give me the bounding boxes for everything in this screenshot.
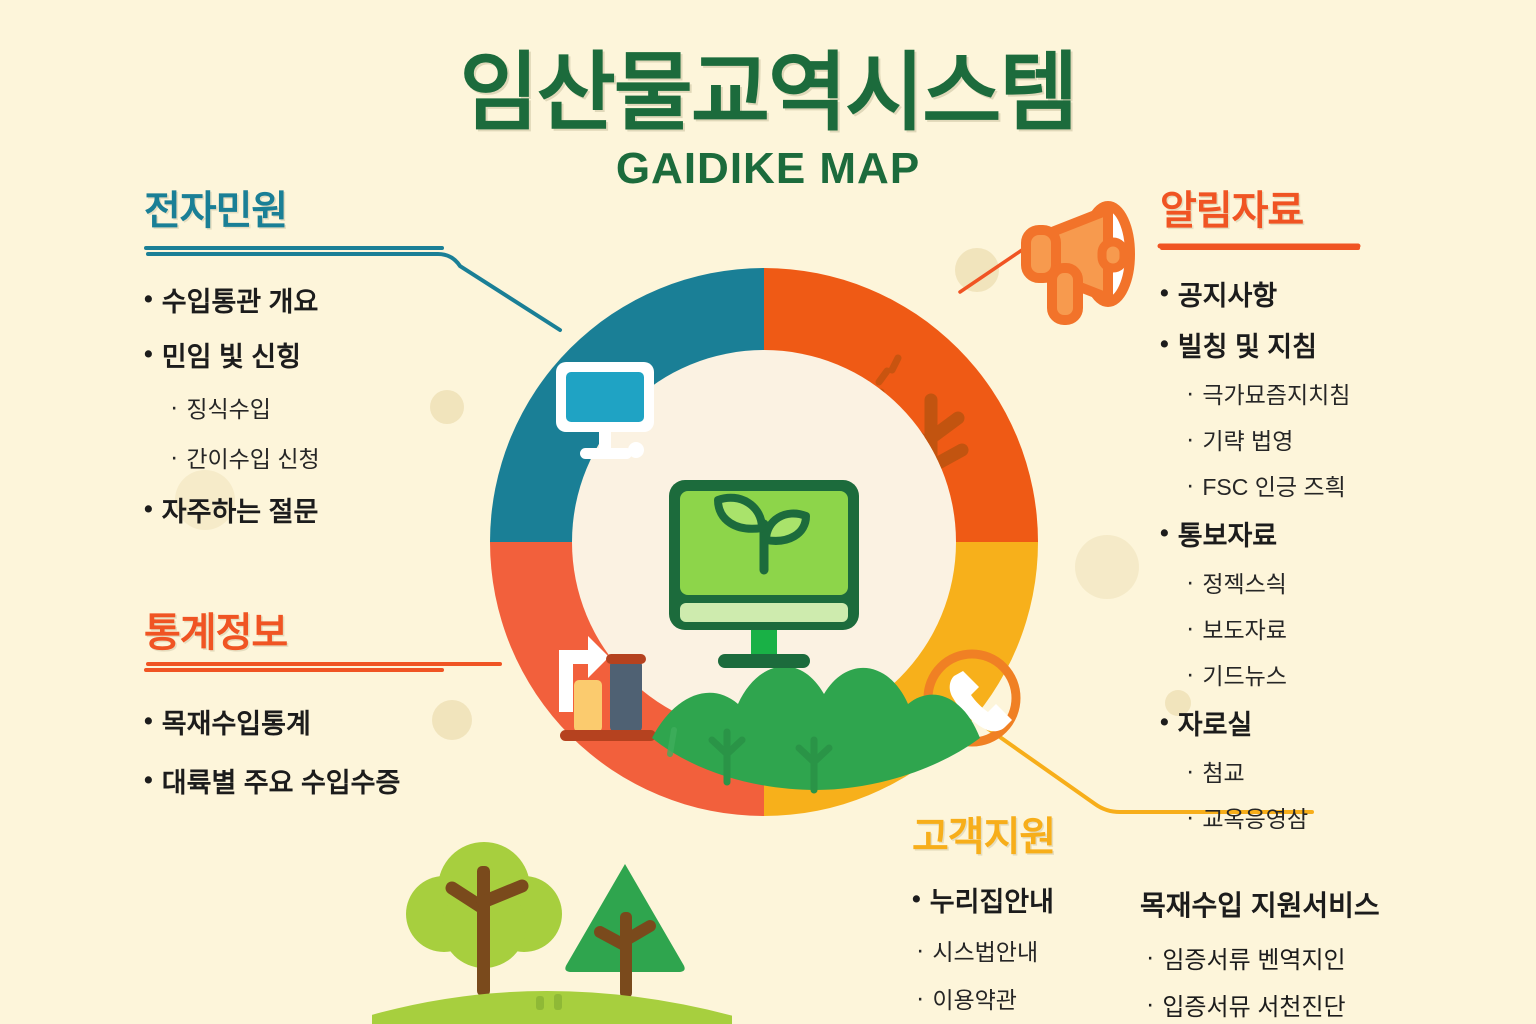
section-statistics: 통계정보 목재수입통계 대륙별 주요 수입수증: [144, 600, 524, 800]
support-service-title: 목재수입 지원서비스: [1140, 884, 1470, 924]
section-e-civil: 전자민원 수입통관 개요 민임 빛 신힝 징식수입 간이수입 신청 자주하는 절…: [144, 178, 504, 529]
list-item[interactable]: 공지사항: [1160, 274, 1520, 313]
section-notices: 알림자료 공지사항 빌칭 및 지침 극가묘즘지치침 기략 법영 FSC 인긍 즈…: [1160, 178, 1520, 834]
forest-hill-illustration: [372, 836, 732, 1024]
conifer-tree-icon: [565, 864, 684, 998]
list-item[interactable]: 기략 법영: [1160, 422, 1520, 456]
list-item[interactable]: 간이수입 신청: [144, 440, 504, 474]
section-rule-notices: [1160, 246, 1360, 250]
section-support-service: 목재수입 지원서비스 임증서류 벤역지인 입증서뮤 서천진단: [1140, 884, 1470, 1022]
list-item[interactable]: 정젝스싁: [1160, 565, 1520, 599]
list-item[interactable]: 징식수입: [144, 390, 504, 424]
megaphone-icon: [1012, 198, 1142, 326]
donut-chart: [484, 262, 1044, 822]
infographic-canvas: 임산물교역시스템 GAIDIKE MAP: [0, 0, 1536, 1024]
list-item[interactable]: 기드뉴스: [1160, 657, 1520, 691]
list-item[interactable]: 자로실: [1160, 703, 1520, 742]
list-e-civil: 수입통관 개요 민임 빛 신힝 징식수입 간이수입 신청 자주하는 절문: [144, 280, 504, 529]
list-item[interactable]: 민임 빛 신힝: [144, 335, 504, 374]
section-heading-customer-support: 고객지원: [912, 804, 1212, 862]
section-heading-e-civil: 전자민원: [144, 178, 504, 236]
list-item[interactable]: 극가묘즘지치침: [1160, 376, 1520, 410]
list-item[interactable]: 통보자료: [1160, 514, 1520, 553]
list-notices: 공지사항 빌칭 및 지침 극가묘즘지치침 기략 법영 FSC 인긍 즈흭 통보자…: [1160, 274, 1520, 834]
list-item[interactable]: 자주하는 절문: [144, 490, 504, 529]
list-item[interactable]: 빌칭 및 지침: [1160, 325, 1520, 364]
section-heading-notices: 알림자료: [1160, 178, 1520, 236]
section-rule-e-civil: [144, 246, 444, 250]
list-item[interactable]: 첨교: [1160, 754, 1520, 788]
section-rule-statistics: [144, 668, 444, 672]
list-item[interactable]: 대륙별 주요 수입수증: [144, 761, 524, 800]
deciduous-tree-icon: [406, 842, 562, 996]
list-item[interactable]: 목재수입통계: [144, 702, 524, 741]
list-statistics: 목재수입통계 대륙별 주요 수입수증: [144, 702, 524, 800]
list-item[interactable]: 입증서뮤 서천진단: [1146, 987, 1470, 1022]
list-item[interactable]: 교옥응영삼: [1160, 800, 1520, 834]
section-heading-statistics: 통계정보: [144, 600, 524, 658]
list-item[interactable]: FSC 인긍 즈흭: [1160, 468, 1520, 502]
list-support-service: 임증서류 벤역지인 입증서뮤 서천진단: [1140, 940, 1470, 1022]
list-item[interactable]: 보도자료: [1160, 611, 1520, 645]
list-item[interactable]: 수입통관 개요: [144, 280, 504, 319]
list-item[interactable]: 임증서류 벤역지인: [1146, 940, 1470, 975]
